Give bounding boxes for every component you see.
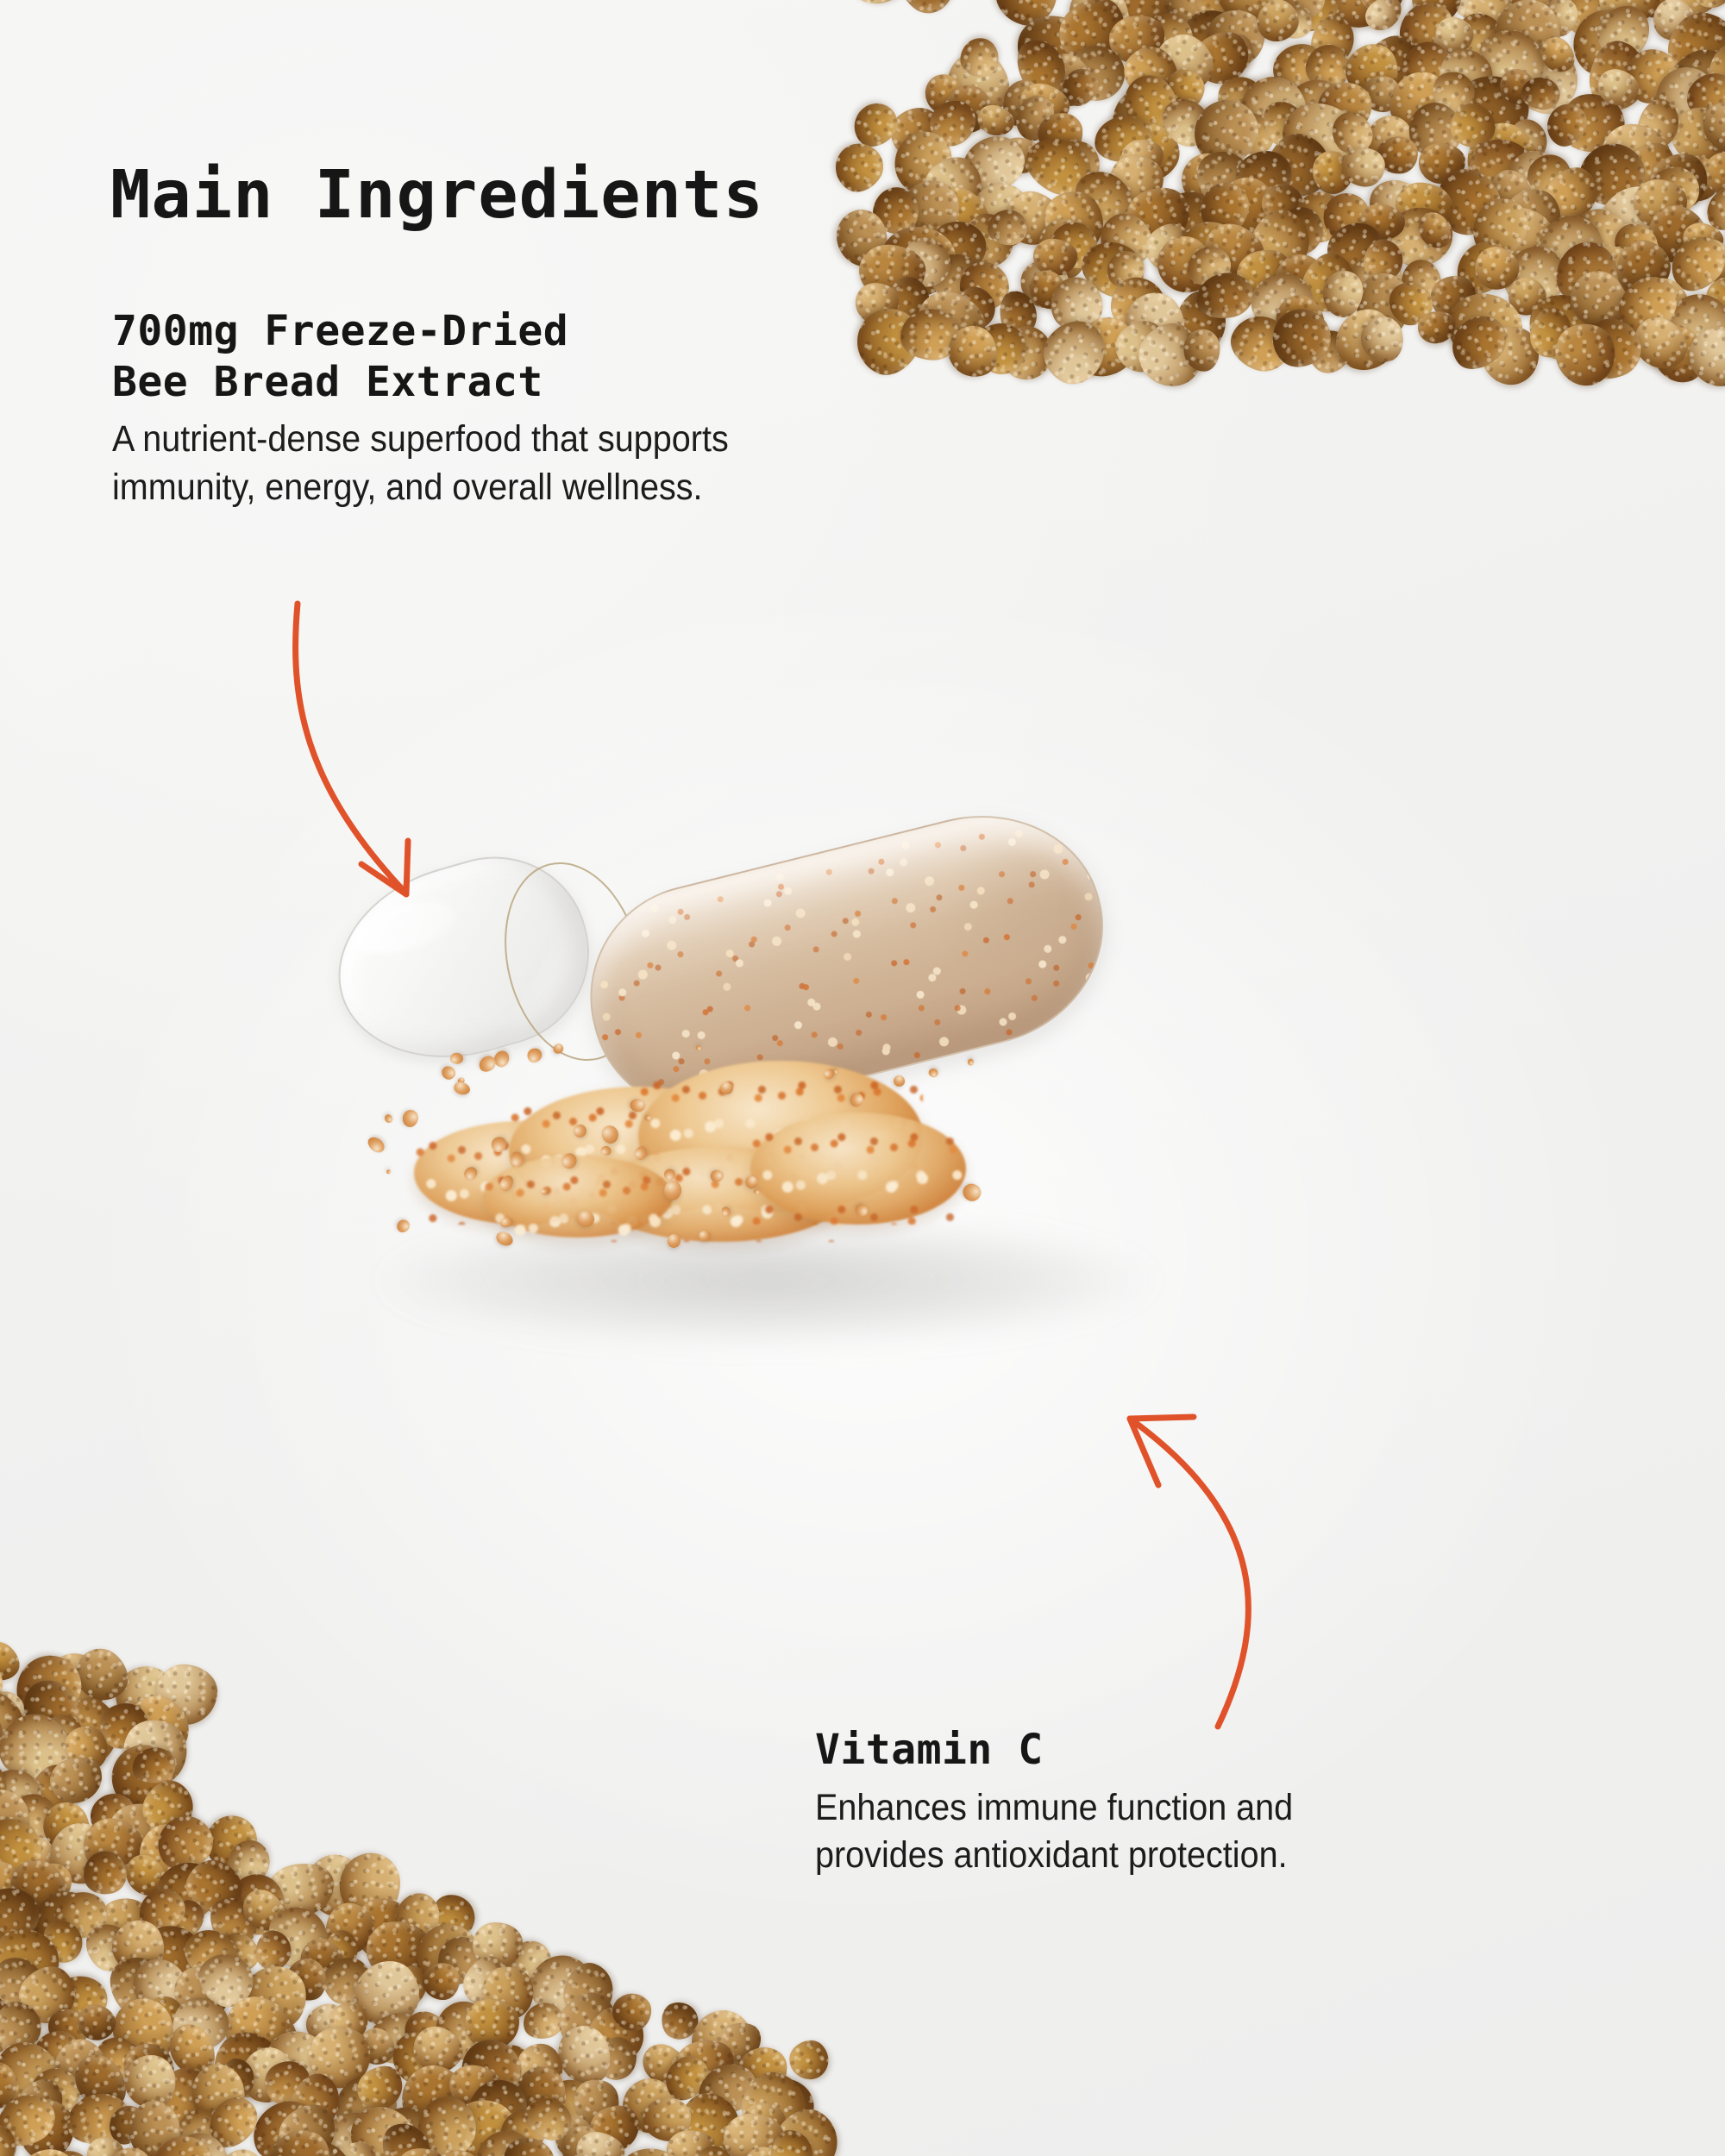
powder-speckle [483,1156,673,1238]
open-capsule-with-powder [328,845,1345,1397]
page-title: Main Ingredients [110,161,764,231]
powder-mound [483,1156,673,1238]
granule [1183,329,1220,371]
powder-crumb [366,1134,387,1156]
powder-crumb [524,1045,544,1065]
ingredient-heading: Vitamin C [815,1725,1591,1776]
ingredient-vitamin-c: Vitamin C Enhances immune function and p… [815,1725,1591,1880]
powder-crumb [551,1042,565,1056]
powder-crumb [386,1169,392,1175]
granule [422,1962,461,2001]
powder-crumb [395,1218,412,1235]
spilled-powder [379,1026,983,1250]
ingredients-infographic: Main Ingredients 700mg Freeze-Dried Bee … [0,0,1725,2156]
powder-crumb [440,1064,458,1082]
powder-crumb [968,1058,974,1065]
ingredient-description: Enhances immune function and provides an… [815,1784,1529,1881]
powder-crumb [449,1053,463,1065]
powder-crumb [928,1067,939,1078]
powder-crumb [453,1080,472,1097]
powder-crumb [695,1044,701,1050]
bee-bread-granules-top-right [845,0,1725,319]
bee-bread-granules-bottom-left [0,1656,768,2156]
granule [826,135,892,200]
ingredient-description: A nutrient-dense superfood that supports… [112,416,1025,512]
powder-crumb [383,1113,394,1125]
granule [841,0,915,8]
granule [891,0,963,22]
arrow-to-powder-icon [1130,1417,1248,1727]
